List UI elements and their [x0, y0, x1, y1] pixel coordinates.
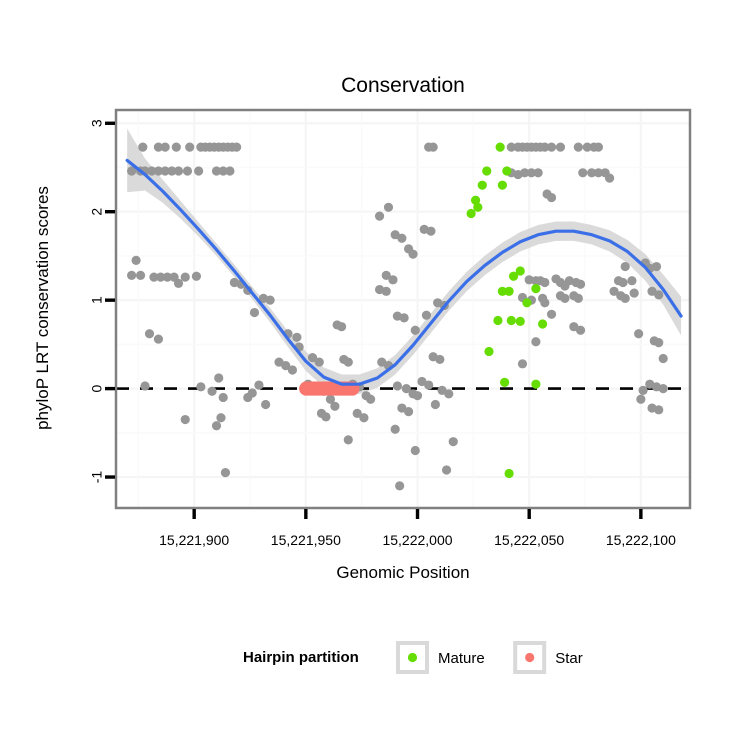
data-point-other	[232, 143, 241, 152]
data-point-mature	[467, 209, 476, 218]
data-point-other	[556, 143, 565, 152]
data-point-other	[388, 275, 397, 284]
data-point-other	[393, 381, 402, 390]
data-point-other	[576, 326, 585, 335]
data-point-other	[636, 395, 645, 404]
data-point-mature	[496, 143, 505, 152]
data-point-other	[560, 294, 569, 303]
data-point-other	[442, 465, 451, 474]
data-point-other	[652, 262, 661, 271]
y-tick-label: 1	[89, 296, 105, 304]
data-point-other	[424, 380, 433, 389]
data-point-other	[627, 276, 636, 285]
data-point-other	[127, 271, 136, 280]
data-point-mature	[531, 284, 540, 293]
data-point-other	[547, 193, 556, 202]
x-tick-label: 15,222,000	[382, 532, 452, 548]
y-tick-label: 2	[89, 208, 105, 216]
data-point-mature	[493, 316, 502, 325]
conservation-plot: Conservation phyloP LRT conservation sco…	[0, 0, 750, 750]
data-point-other	[266, 296, 275, 305]
x-tick-label: 15,221,950	[271, 532, 341, 548]
data-point-mature	[484, 347, 493, 356]
data-point-other	[654, 290, 663, 299]
data-point-other	[621, 262, 630, 271]
y-tick-label: 3	[89, 119, 105, 127]
data-point-other	[321, 412, 330, 421]
data-point-other	[366, 395, 375, 404]
data-point-other	[132, 256, 141, 265]
data-point-other	[216, 413, 225, 422]
data-point-mature	[482, 166, 491, 175]
legend-label: Mature	[438, 650, 485, 667]
data-point-other	[621, 294, 630, 303]
data-point-other	[315, 357, 324, 366]
data-point-mature	[531, 380, 540, 389]
data-point-other	[654, 405, 663, 414]
data-point-other	[578, 168, 587, 177]
legend-title: Hairpin partition	[243, 649, 359, 666]
data-point-other	[444, 389, 453, 398]
x-tick-label: 15,222,100	[606, 532, 676, 548]
y-axis-title: phyloP LRT conservation scores	[33, 186, 52, 430]
data-point-other	[185, 143, 194, 152]
data-point-other	[250, 308, 259, 317]
x-axis-title: Genomic Position	[336, 563, 469, 582]
data-point-other	[654, 338, 663, 347]
data-point-other	[630, 288, 639, 297]
data-point-mature	[478, 181, 487, 190]
data-point-other	[196, 382, 205, 391]
data-point-other	[140, 381, 149, 390]
data-point-mature	[507, 316, 516, 325]
data-point-other	[397, 234, 406, 243]
data-point-other	[221, 468, 230, 477]
data-point-other	[344, 357, 353, 366]
data-point-other	[634, 329, 643, 338]
data-point-other	[254, 380, 263, 389]
data-point-other	[136, 271, 145, 280]
x-tick-label: 15,221,900	[159, 532, 229, 548]
data-point-mature	[509, 272, 518, 281]
data-point-other	[138, 143, 147, 152]
data-point-other	[344, 435, 353, 444]
data-point-other	[408, 250, 417, 259]
data-point-other	[183, 166, 192, 175]
data-point-mature	[504, 287, 513, 296]
data-point-other	[638, 386, 647, 395]
legend-key-dot	[525, 653, 534, 662]
data-point-other	[534, 168, 543, 177]
data-point-other	[449, 437, 458, 446]
data-point-mature	[516, 317, 525, 326]
data-point-other	[422, 311, 431, 320]
data-point-other	[212, 421, 221, 430]
data-point-other	[145, 329, 154, 338]
data-point-other	[243, 393, 252, 402]
x-tick-label: 15,222,050	[494, 532, 564, 548]
data-point-mature	[500, 378, 509, 387]
data-point-other	[605, 174, 614, 183]
data-point-other	[181, 415, 190, 424]
data-point-other	[411, 326, 420, 335]
data-point-other	[219, 393, 228, 402]
legend-label: Star	[555, 650, 583, 667]
data-point-other	[435, 355, 444, 364]
data-point-other	[391, 425, 400, 434]
data-point-mature	[522, 298, 531, 307]
data-point-mature	[502, 166, 511, 175]
data-point-other	[411, 446, 420, 455]
data-point-other	[429, 143, 438, 152]
y-tick-label: 0	[89, 384, 105, 392]
data-point-other	[207, 387, 216, 396]
data-point-other	[547, 143, 556, 152]
data-point-mature	[504, 469, 513, 478]
y-tick-label: -1	[89, 471, 105, 484]
data-point-other	[375, 212, 384, 221]
data-point-other	[659, 354, 668, 363]
data-point-other	[594, 143, 603, 152]
data-point-other	[192, 272, 201, 281]
data-point-other	[576, 280, 585, 289]
data-point-other	[574, 143, 583, 152]
data-point-other	[404, 407, 413, 416]
data-point-mature	[498, 181, 507, 190]
data-point-other	[400, 313, 409, 322]
data-point-other	[659, 384, 668, 393]
data-point-other	[330, 402, 339, 411]
data-point-mature	[538, 319, 547, 328]
data-point-other	[384, 203, 393, 212]
data-point-other	[518, 359, 527, 368]
data-point-other	[382, 287, 391, 296]
data-point-other	[154, 334, 163, 343]
data-point-other	[413, 391, 422, 400]
legend-key-dot	[408, 653, 417, 662]
data-point-other	[174, 166, 183, 175]
data-point-other	[288, 365, 297, 374]
data-point-other	[261, 400, 270, 409]
data-point-other	[531, 337, 540, 346]
data-point-other	[547, 310, 556, 319]
data-point-other	[214, 373, 223, 382]
data-point-other	[574, 294, 583, 303]
data-point-other	[395, 481, 404, 490]
data-point-other	[359, 413, 368, 422]
data-point-other	[225, 166, 234, 175]
data-point-other	[426, 227, 435, 236]
data-point-other	[618, 278, 627, 287]
data-point-other	[431, 400, 440, 409]
data-point-other	[174, 279, 183, 288]
data-point-other	[337, 322, 346, 331]
data-point-other	[292, 333, 301, 342]
chart-title: Conservation	[341, 74, 465, 97]
data-point-other	[540, 278, 549, 287]
data-point-other	[194, 166, 203, 175]
data-point-other	[540, 298, 549, 307]
chart-root: Conservation phyloP LRT conservation sco…	[0, 0, 750, 750]
data-point-other	[172, 143, 181, 152]
data-point-other	[161, 143, 170, 152]
